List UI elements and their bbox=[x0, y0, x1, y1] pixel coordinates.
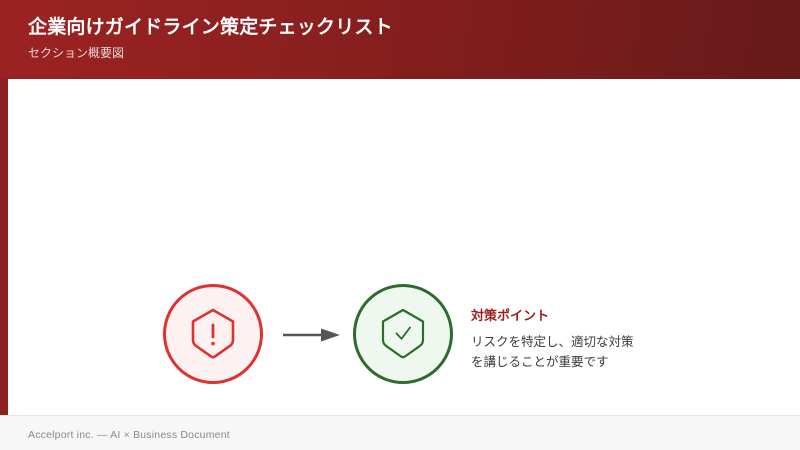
slide-canvas: 対策ポイント リスクを特定し、適切な対策 を講じることが重要です bbox=[8, 79, 800, 415]
callout-block: 対策ポイント リスクを特定し、適切な対策 を講じることが重要です bbox=[471, 307, 661, 372]
diagram-container: 対策ポイント リスクを特定し、適切な対策 を講じることが重要です bbox=[155, 284, 655, 400]
page-subtitle: セクション概要図 bbox=[28, 45, 124, 61]
slide-footer: Accelport inc. — AI × Business Document bbox=[0, 415, 800, 450]
slide-header: 企業向けガイドライン策定チェックリスト セクション概要図 bbox=[0, 0, 800, 79]
callout-body: リスクを特定し、適切な対策 を講じることが重要です bbox=[471, 332, 661, 372]
shield-alert-icon bbox=[187, 306, 239, 362]
shield-check-icon bbox=[377, 306, 429, 362]
diagram-node-safe[interactable] bbox=[353, 284, 453, 384]
callout-body-line: を講じることが重要です bbox=[471, 352, 661, 372]
callout-body-line: リスクを特定し、適切な対策 bbox=[471, 332, 661, 352]
page-title: 企業向けガイドライン策定チェックリスト bbox=[28, 16, 393, 40]
left-accent-bar bbox=[0, 79, 8, 415]
diagram-node-risk[interactable] bbox=[163, 284, 263, 384]
footer-text: Accelport inc. — AI × Business Document bbox=[28, 429, 230, 441]
slide-root: 企業向けガイドライン策定チェックリスト セクション概要図 bbox=[0, 0, 800, 450]
callout-title: 対策ポイント bbox=[471, 307, 661, 325]
arrow-right-icon bbox=[283, 327, 343, 343]
